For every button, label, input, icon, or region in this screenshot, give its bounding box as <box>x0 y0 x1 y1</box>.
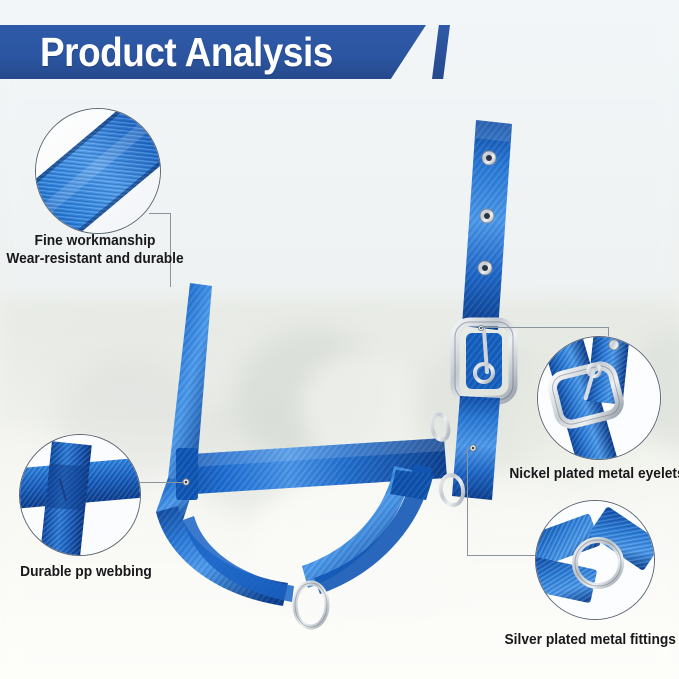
leader-line-fittings-h <box>467 555 537 556</box>
leader-line-eyelets-h <box>482 327 609 328</box>
ring-fitting-closeup <box>536 501 654 619</box>
callout-label-durable-pp-webbing: Durable pp webbing <box>4 563 167 581</box>
leader-line-pp-webbing-h <box>138 482 184 483</box>
leader-line-fittings-v <box>467 449 468 556</box>
callout-detail-eyelets <box>537 336 661 460</box>
infographic-canvas: Product Analysis <box>0 0 679 679</box>
callout-detail-webbing-weave <box>35 108 161 234</box>
callout-detail-pp-webbing <box>19 434 141 556</box>
callout-label-fine-workmanship-line2: Wear-resistant and durable <box>5 250 186 268</box>
callout-detail-fittings <box>535 500 655 620</box>
leader-line-fine-workmanship-h <box>149 213 171 214</box>
callout-label-silver-plated-metal-fittings: Silver plated metal fittings <box>504 631 674 649</box>
buckle-closeup <box>538 337 660 459</box>
callout-label-fine-workmanship-line1: Fine workmanship <box>5 232 186 250</box>
webbing-weave-closeup <box>36 109 160 233</box>
webbing-junction-closeup <box>20 435 140 555</box>
callout-label-nickel-plated-metal-eyelets: Nickel plated metal eyelets <box>509 465 674 483</box>
